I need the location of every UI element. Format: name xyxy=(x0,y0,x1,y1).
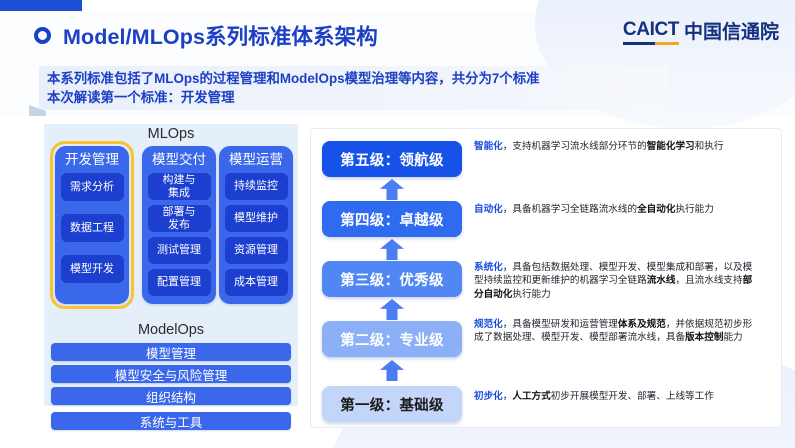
top-left-accent-bar xyxy=(0,0,82,11)
pillar-item[interactable]: 成本管理 xyxy=(225,269,288,296)
pillar-item[interactable]: 配置管理 xyxy=(148,269,211,296)
pillar-item[interactable]: 资源管理 xyxy=(225,237,288,264)
modelops-bar[interactable]: 模型管理 xyxy=(51,343,291,361)
pillar-item[interactable]: 测试管理 xyxy=(148,237,211,264)
pillar-model-delivery[interactable]: 模型交付 构建与集成 部署与发布 测试管理 配置管理 xyxy=(142,146,216,304)
logo-underline xyxy=(623,42,679,45)
pillar-item[interactable]: 构建与集成 xyxy=(148,173,211,200)
maturity-level-3[interactable]: 第三级：优秀级 xyxy=(322,261,462,297)
pillar-title: 模型运营 xyxy=(229,150,283,170)
maturity-level-1[interactable]: 第一级：基础级 xyxy=(322,386,462,422)
pillar-item[interactable]: 数据工程 xyxy=(61,214,124,242)
page-title: Model/MLOps系列标准体系架构 xyxy=(63,20,378,51)
subtitle-line-1: 本系列标准包括了MLOps的过程管理和ModelOps模型治理等内容，共分为7个… xyxy=(47,70,662,89)
pillar-title: 模型交付 xyxy=(152,150,206,170)
modelops-bar[interactable]: 组织结构 xyxy=(51,387,291,405)
maturity-level-4[interactable]: 第四级：卓越级 xyxy=(322,201,462,237)
page-title-row: Model/MLOps系列标准体系架构 xyxy=(34,20,378,51)
subtitle-line-2: 本次解读第一个标准：开发管理 xyxy=(47,89,662,108)
subtitle-text: 本系列标准包括了MLOps的过程管理和ModelOps模型治理等内容，共分为7个… xyxy=(47,70,662,107)
foundation-bar[interactable]: 系统与工具 xyxy=(51,412,291,430)
pillar-item[interactable]: 持续监控 xyxy=(225,173,288,200)
pillar-item[interactable]: 模型开发 xyxy=(61,255,124,283)
logo-chinese-text: 中国信通院 xyxy=(684,23,779,45)
ring-icon xyxy=(34,27,51,44)
pillar-model-operations[interactable]: 模型运营 持续监控 模型维护 资源管理 成本管理 xyxy=(219,146,293,304)
pillar-item[interactable]: 需求分析 xyxy=(61,173,124,201)
maturity-description-2: 规范化，具备模型研发和运营管理体系及规范，并依据规范初步形成了数据处理、模型开发… xyxy=(474,318,760,345)
pillar-item[interactable]: 模型维护 xyxy=(225,205,288,232)
caict-logo: CAICT 中国信通院 xyxy=(623,20,779,45)
mlops-group-title: MLOps xyxy=(44,126,298,142)
pillar-development-management[interactable]: 开发管理 需求分析 数据工程 模型开发 xyxy=(55,146,129,304)
maturity-level-2[interactable]: 第二级：专业级 xyxy=(322,321,462,357)
logo-caict-text: CAICT xyxy=(623,19,679,40)
logo-mark: CAICT xyxy=(623,20,679,45)
modelops-bar[interactable]: 模型安全与风险管理 xyxy=(51,365,291,383)
maturity-description-3: 系统化，具备包括数据处理、模型开发、模型集成和部署，以及模型持续监控和更新维护的… xyxy=(474,261,760,301)
slide-canvas: Model/MLOps系列标准体系架构 CAICT 中国信通院 本系列标准包括了… xyxy=(0,0,795,448)
modelops-group-title: ModelOps xyxy=(44,322,298,338)
maturity-description-4: 自动化，具备机器学习全链路流水线的全自动化执行能力 xyxy=(474,203,760,216)
pillar-item[interactable]: 部署与发布 xyxy=(148,205,211,232)
maturity-level-5[interactable]: 第五级：领航级 xyxy=(322,141,462,177)
maturity-description-1: 初步化，人工方式初步开展模型开发、部署、上线等工作 xyxy=(474,390,760,403)
maturity-description-5: 智能化，支持机器学习流水线部分环节的智能化学习和执行 xyxy=(474,140,760,153)
pillar-title: 开发管理 xyxy=(65,150,119,170)
